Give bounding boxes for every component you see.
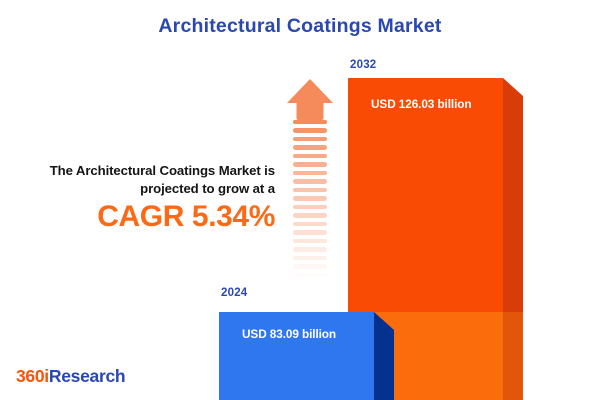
bar-2032-overlap-side [503,312,523,400]
infographic-canvas: Architectural Coatings Market 2032 USD 1… [0,0,600,400]
arrow-dash [293,128,327,132]
up-arrow-head-icon [286,78,334,120]
brand-logo-research: Research [49,366,125,386]
bar-2024-value-label: USD 83.09 billion [242,327,336,341]
arrow-dash [293,196,327,200]
arrow-dash [293,179,327,183]
bar-2032-value-label: USD 126.03 billion [371,97,471,111]
arrow-dash [293,188,327,192]
arrow-dash [293,239,327,243]
arrow-dash [293,222,327,226]
arrow-dash [293,230,327,234]
arrow-dash [293,171,327,175]
cagr-value-text: CAGR 5.34% [10,201,275,233]
arrow-dash [293,264,327,268]
arrow-dash [293,162,327,166]
bar-2032-year-label: 2032 [350,59,376,71]
page-title: Architectural Coatings Market [0,15,600,38]
arrow-dash [293,213,327,217]
cagr-lead-text: The Architectural Coatings Market is pro… [10,162,275,197]
arrow-dash [293,137,327,141]
bar-2024-year-label: 2024 [221,287,247,299]
bar-2024-front-face [219,312,374,400]
arrow-dash [293,273,327,277]
arrow-dash [293,205,327,209]
arrow-shaft-dashes [293,120,327,293]
arrow-dash [293,247,327,251]
arrow-dash [293,281,327,285]
arrow-dash [293,145,327,149]
arrow-dash [293,120,327,124]
cagr-callout: The Architectural Coatings Market is pro… [10,162,275,233]
arrow-dash [293,256,327,260]
brand-logo-360i: 360i [16,366,49,386]
arrow-dash [293,154,327,158]
growth-arrow-icon [286,78,334,293]
brand-logo[interactable]: 360iResearch [16,366,125,387]
